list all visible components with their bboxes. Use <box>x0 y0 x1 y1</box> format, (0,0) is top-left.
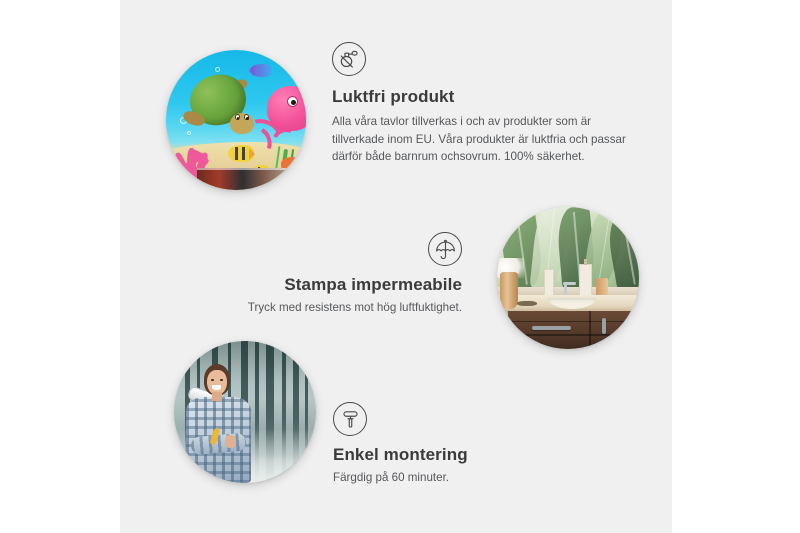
purple-fish <box>250 64 272 77</box>
octopus-eye <box>287 96 298 107</box>
feature-title: Enkel montering <box>333 445 623 465</box>
feature-block-odourless: Luktfri produkt Alla våra tavlor tillver… <box>332 42 632 166</box>
turtle-eye <box>235 114 240 120</box>
feature-body: Tryck med resistens mot hög luftfuktighe… <box>180 299 462 317</box>
tray <box>517 301 537 307</box>
vase <box>500 272 518 309</box>
no-fragrance-icon <box>332 42 366 76</box>
promo-canvas: Luktfri produkt Alla våra tavlor tillver… <box>0 0 800 533</box>
drawer-handle <box>532 326 571 330</box>
feature-title: Stampa impermeabile <box>180 275 462 295</box>
feature-image-easy-install <box>174 341 316 483</box>
vanity-cabinet <box>508 311 639 349</box>
feature-block-waterproof: Stampa impermeabile Tryck med resistens … <box>180 232 462 317</box>
door-handle <box>602 318 606 334</box>
frame-strip <box>197 168 298 190</box>
feature-block-easy-install: Enkel montering Färgdig på 60 minuter. <box>333 402 623 487</box>
bottle <box>544 269 554 297</box>
feature-image-odourless <box>166 50 306 190</box>
feature-body: Färgdig på 60 minuter. <box>333 469 623 487</box>
smile <box>212 385 222 390</box>
yellow-fish <box>228 145 254 162</box>
woman-figure <box>183 364 271 483</box>
feature-title: Luktfri produkt <box>332 87 632 107</box>
feature-image-waterproof <box>497 207 639 349</box>
hand <box>225 435 236 448</box>
face <box>207 370 226 395</box>
umbrella-icon <box>428 232 462 266</box>
bubble-icon <box>215 67 220 72</box>
paint-roller-icon <box>333 402 367 436</box>
turtle-eye <box>244 114 249 120</box>
octopus-head <box>267 86 306 131</box>
feature-body: Alla våra tavlor tillverkas i och av pro… <box>332 113 632 166</box>
